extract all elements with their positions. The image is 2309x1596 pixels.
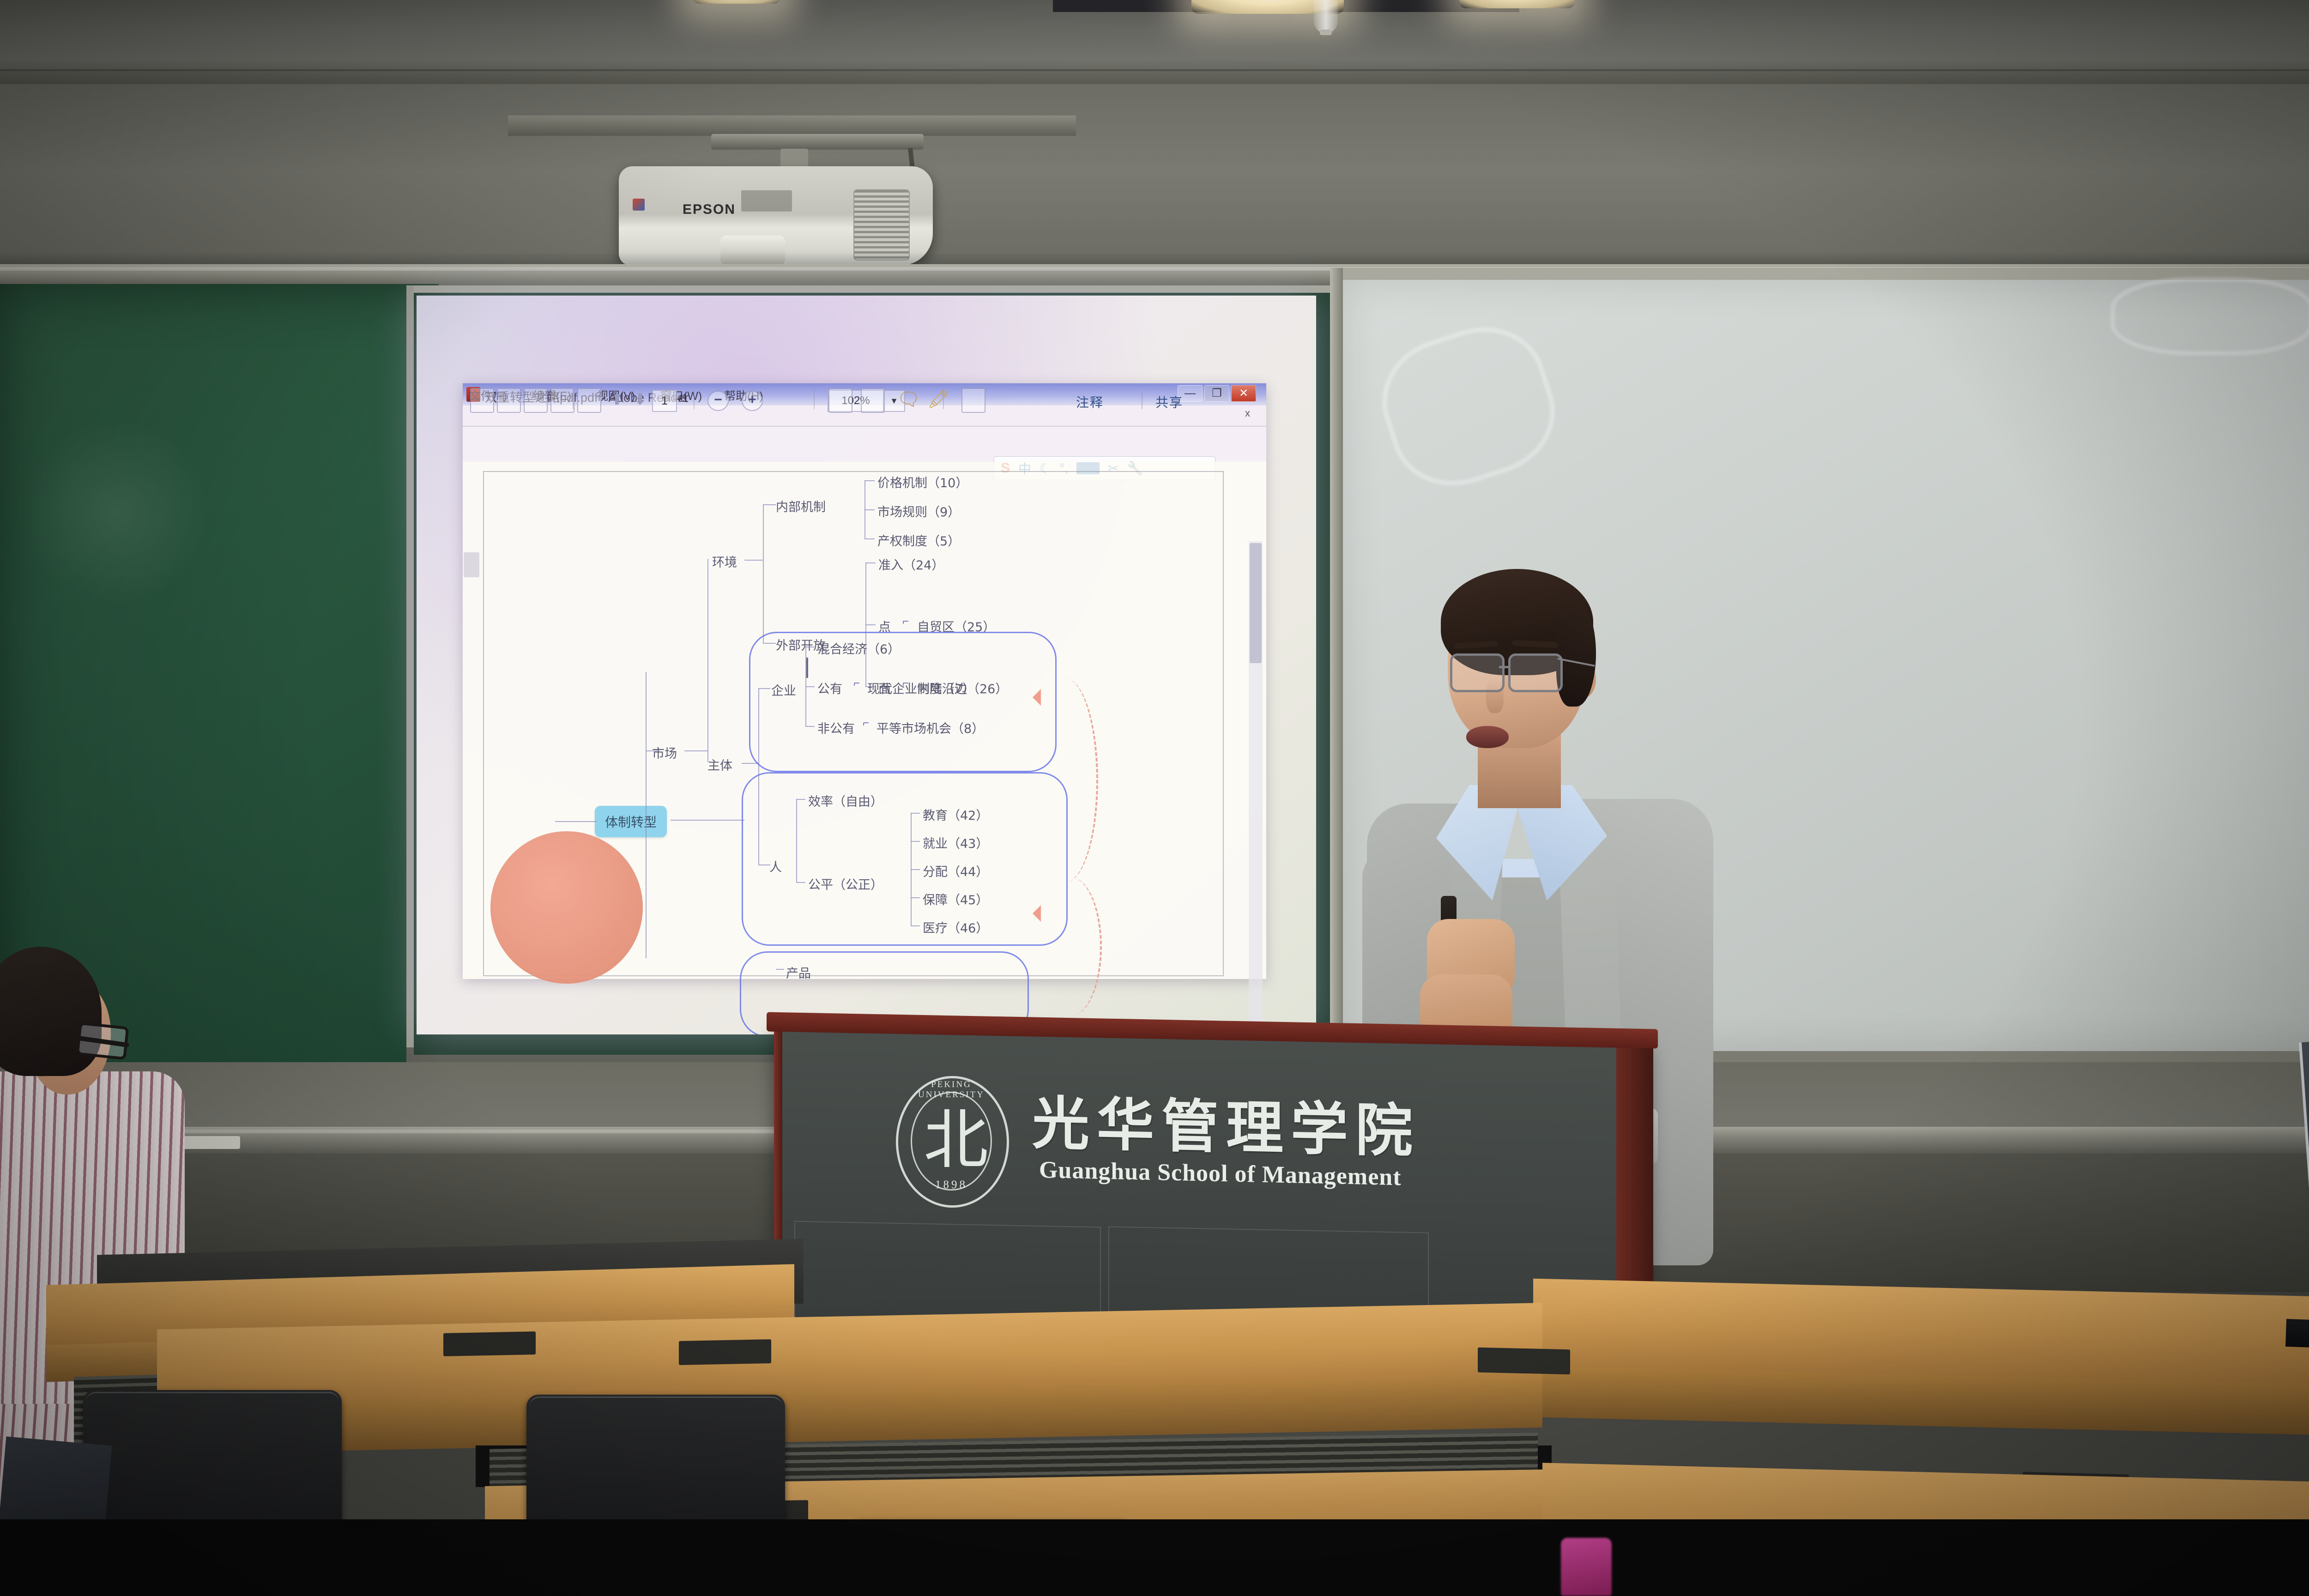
- menubar-close-icon[interactable]: x: [1245, 407, 1250, 419]
- mindmap-leaf: 价格机制（10）: [877, 473, 968, 491]
- mindmap-branch-caret-icon: ⌐: [853, 677, 860, 690]
- ceiling-seam: [0, 69, 2309, 71]
- mindmap-leaf: 市场规则（9）: [877, 502, 960, 520]
- pink-water-bottle: [1561, 1538, 1612, 1596]
- eyeglasses-lens-right: [1508, 653, 1563, 692]
- ceiling-light: [693, 0, 780, 4]
- mindmap-node-person: 人: [769, 857, 782, 875]
- maximize-button[interactable]: ❐: [1204, 385, 1229, 402]
- toolbar: [463, 428, 1266, 460]
- projector-logo-mark: [633, 199, 645, 211]
- orange-circle-shape: [490, 831, 643, 984]
- upper-wall: [0, 84, 2309, 278]
- adobe-reader-window[interactable]: 双重转型之路pdf.pdf - Adobe Reader — ❐ ✕ 文件(F)…: [463, 383, 1266, 979]
- annotation-arrowhead-icon: [1024, 905, 1041, 922]
- toolbar-separator: [814, 390, 815, 409]
- mindmap-leaf: 非公有: [817, 719, 855, 737]
- annotation-arrow: [1034, 679, 1098, 882]
- mindmap-node-enterprise: 企业: [771, 681, 796, 699]
- print-icon[interactable]: [550, 388, 574, 413]
- mindmap-branch-subject: 主体: [707, 756, 732, 774]
- eraser: [180, 1136, 240, 1149]
- annotation-arrowhead-icon: [1024, 689, 1041, 706]
- projector-brand-text: EPSON: [683, 202, 736, 218]
- next-page-icon[interactable]: ⬇: [629, 388, 651, 411]
- projector-mount-bracket: [711, 134, 924, 150]
- screen-frame-left-edge: [406, 285, 414, 1047]
- reading-mode-icon[interactable]: [961, 388, 985, 413]
- zoom-out-icon[interactable]: −: [707, 391, 729, 411]
- seal-top-text: PEKING UNIVERSITY: [905, 1080, 997, 1100]
- mindmap-leaf: 就业（43）: [923, 834, 988, 852]
- toolbar-separator: [694, 390, 695, 409]
- pdf-document-area[interactable]: 体制转型 市场 环境 内部机制 外部开放: [463, 462, 1266, 979]
- wall-soffit: [508, 115, 1076, 136]
- comment-pane-button[interactable]: 注释: [1076, 393, 1104, 411]
- toolbar-separator: [573, 390, 574, 409]
- desk-cable-grommet: [1478, 1348, 1570, 1375]
- eyeglasses-bridge: [1499, 666, 1509, 668]
- chair-back-highlight: [86, 1392, 339, 1449]
- presenter-mouth: [1466, 726, 1509, 748]
- mindmap-leaf: 准入（24）: [878, 555, 944, 573]
- hanging-fixture-knob: [1320, 30, 1332, 35]
- podium-panel: [794, 1221, 1101, 1326]
- mindmap-leaf: 公有: [817, 679, 842, 697]
- mindmap-leaf-sub: 现代企业制度（7）: [867, 679, 975, 697]
- ceiling-light: [1459, 0, 1575, 8]
- mindmap-branch-caret-icon: ⌐: [863, 717, 869, 730]
- mindmap-leaf: 混合经济（6）: [817, 639, 900, 657]
- mindmap-leaf: 教育（42）: [923, 805, 988, 823]
- mindmap-group-person: [742, 772, 1068, 946]
- highlight-text-icon[interactable]: 🖍: [927, 388, 949, 411]
- ceiling: [0, 0, 2309, 85]
- page-total-label: /1: [679, 392, 689, 405]
- mindmap-leaf: 分配（44）: [923, 862, 988, 880]
- fit-width-icon[interactable]: [861, 388, 885, 413]
- foreground-floor: [0, 1519, 2309, 1596]
- toolbar-separator: [1142, 391, 1142, 409]
- mindmap-group-enterprise: [749, 632, 1057, 772]
- fit-page-icon[interactable]: [828, 388, 852, 413]
- seal-center-glyph: 北: [924, 1106, 977, 1175]
- mindmap-leaf: 公平（公正）: [808, 875, 883, 893]
- presenter-hair-side: [1556, 600, 1596, 707]
- projector-label-sticker: [741, 190, 792, 212]
- projection-screen: 双重转型之路pdf.pdf - Adobe Reader — ❐ ✕ 文件(F)…: [417, 296, 1316, 1034]
- save-icon[interactable]: [524, 388, 548, 413]
- mindmap-node-product: 产品: [786, 963, 811, 981]
- desk-cable-grommet: [443, 1331, 536, 1356]
- hanging-fixture: [1314, 0, 1338, 33]
- mindmap-leaf: 产权制度（5）: [877, 531, 960, 549]
- projector-vent: [853, 189, 910, 260]
- scrollbar-thumb[interactable]: [1250, 543, 1262, 663]
- chair-back-highlight: [529, 1396, 782, 1453]
- whiteboard-erased-mark: [2110, 277, 2309, 356]
- mindmap-leaf: 保障（45）: [923, 890, 988, 908]
- mindmap-leaf: 医疗（46）: [923, 918, 988, 936]
- lecture-room-photo: EPSON 双重转型之路pdf.pdf - Adobe Reader — ❐ ✕…: [0, 0, 2309, 1596]
- mindmap-branch-caret-icon: ⌐: [902, 615, 909, 628]
- desk-cable-grommet: [679, 1339, 771, 1365]
- chalk-smudge: [18, 416, 212, 610]
- presenter-nose: [1486, 679, 1504, 713]
- share-pane-button[interactable]: 共享: [1155, 393, 1183, 411]
- podium-chinese-name: 光华管理学院: [1032, 1076, 1420, 1168]
- navigation-pane-tab[interactable]: [464, 552, 479, 577]
- save-as-icon[interactable]: [497, 388, 521, 413]
- page-number-input[interactable]: 1: [652, 390, 677, 412]
- sticky-note-icon[interactable]: 🗨: [897, 388, 919, 411]
- seal-year-text: 1898: [905, 1179, 997, 1191]
- previous-page-icon[interactable]: ⬆: [606, 388, 628, 411]
- close-button[interactable]: ✕: [1231, 385, 1256, 402]
- laptop-base-right[interactable]: [2285, 1319, 2309, 1350]
- mindmap-branch-market: 市场: [652, 744, 677, 762]
- whiteboard-left-edge: [1330, 268, 1343, 1062]
- open-file-icon[interactable]: [470, 388, 494, 413]
- mindmap-env-internal: 内部机制: [776, 497, 826, 515]
- mindmap-leaf-sub: 平等市场机会（8）: [876, 719, 984, 737]
- mindmap-leaf: 效率（自由）: [808, 792, 883, 810]
- menu-separator: [463, 426, 1266, 427]
- mindmap-branch-environment: 环境: [712, 552, 737, 570]
- email-icon[interactable]: [577, 388, 601, 413]
- mindmap-root-node: 体制转型: [595, 806, 667, 837]
- zoom-in-icon[interactable]: +: [742, 391, 763, 411]
- annotation-arrow: [1040, 877, 1102, 1016]
